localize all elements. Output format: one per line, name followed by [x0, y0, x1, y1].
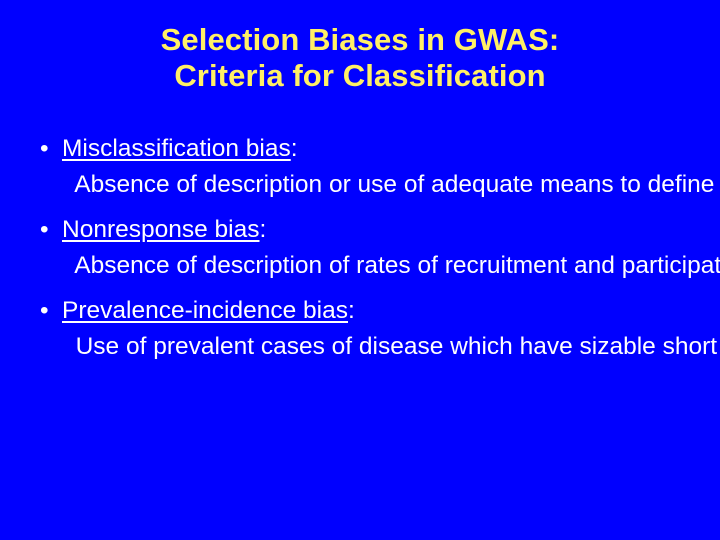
bullet-text: Prevalence-incidence bias: Use of preval… — [62, 293, 690, 364]
bullet-marker-icon: • — [40, 293, 56, 329]
slide-body-bullet-list: • Misclassification bias: Absence of des… — [34, 131, 690, 364]
bullet-lead-term: Prevalence-incidence bias — [62, 297, 348, 324]
slide-title-line-2: Criteria for Classification — [0, 58, 720, 94]
bullet-body-text: Absence of description or use of adequat… — [62, 171, 720, 198]
bullet-colon: : — [291, 135, 298, 162]
bullet-text: Misclassification bias: Absence of descr… — [62, 131, 690, 202]
bullet-lead-term: Nonresponse bias — [62, 216, 259, 243]
slide-title-line-1: Selection Biases in GWAS: — [0, 22, 720, 58]
bullet-marker-icon: • — [40, 212, 56, 248]
bullet-body-text: Absence of description of rates of recru… — [62, 252, 720, 279]
bullet-item: • Misclassification bias: Absence of des… — [34, 131, 690, 202]
bullet-lead-term: Misclassification bias — [62, 135, 291, 162]
bullet-item: • Prevalence-incidence bias: Use of prev… — [34, 293, 690, 364]
bullet-colon: : — [348, 297, 355, 324]
bullet-body-text: Use of prevalent cases of disease which … — [62, 333, 720, 360]
presentation-slide: Selection Biases in GWAS: Criteria for C… — [0, 0, 720, 540]
bullet-colon: : — [259, 216, 266, 243]
bullet-text: Nonresponse bias: Absence of description… — [62, 212, 690, 283]
slide-title: Selection Biases in GWAS: Criteria for C… — [0, 22, 720, 94]
bullet-item: • Nonresponse bias: Absence of descripti… — [34, 212, 690, 283]
bullet-marker-icon: • — [40, 131, 56, 167]
